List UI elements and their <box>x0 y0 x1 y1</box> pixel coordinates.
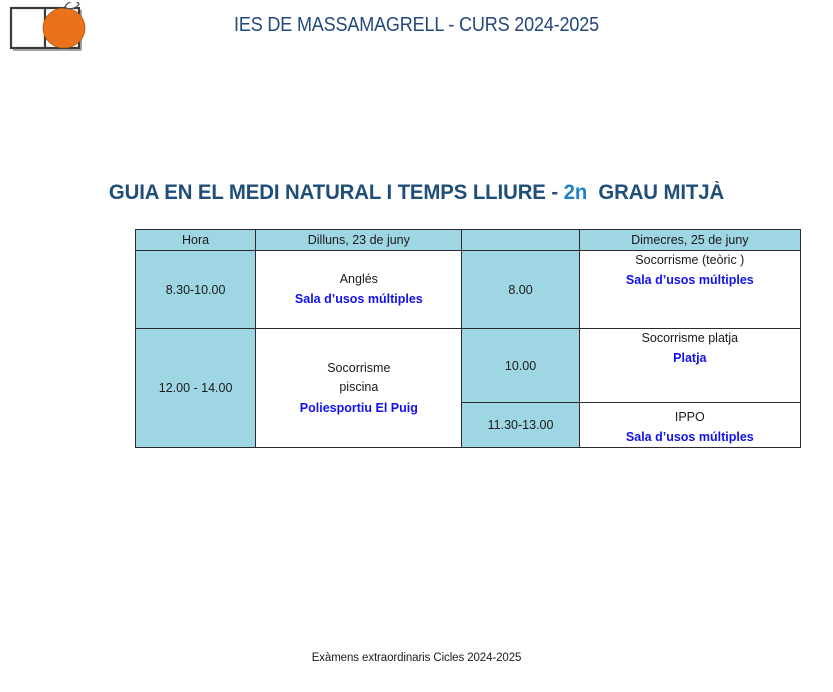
subject-dilluns-row1: Anglés <box>256 270 461 289</box>
time-label-row2a: 10.00 <box>462 359 578 373</box>
place-dilluns-row2: Poliesportiu El Puig <box>256 398 461 418</box>
table-header-row: Hora Dilluns, 23 de juny Dimecres, 25 de… <box>136 230 801 251</box>
table-row: 12.00 - 14.00 Socorrisme piscina Poliesp… <box>136 329 801 403</box>
cell-time-row2b: 11.30-13.00 <box>462 403 579 448</box>
column-header-empty <box>462 230 579 251</box>
time-label-row2b: 11.30-13.00 <box>462 418 578 432</box>
cell-hora-row1: 8.30-10.00 <box>136 251 256 329</box>
page-footer: Exàmens extraordinaris Cicles 2024-2025 <box>0 652 833 664</box>
cell-time-row2a: 10.00 <box>462 329 579 403</box>
exam-schedule-table: Hora Dilluns, 23 de juny Dimecres, 25 de… <box>135 229 801 448</box>
cell-hora-row2: 12.00 - 14.00 <box>136 329 256 448</box>
cell-dilluns-row1: Anglés Sala d’usos múltiples <box>256 251 462 329</box>
cell-dimecres-row2b: IPPO Sala d’usos múltiples <box>579 403 800 448</box>
place-dilluns-row1: Sala d’usos múltiples <box>256 289 461 309</box>
hora-label-row2: 12.00 - 14.00 <box>136 381 255 395</box>
subject-dilluns-row2-line1: Socorrisme <box>256 359 461 378</box>
place-dimecres-row2b: Sala d’usos múltiples <box>580 427 800 447</box>
page-header: IES DE MASSAMAGRELL - CURS 2024-2025 <box>0 0 833 62</box>
table-row: 8.30-10.00 Anglés Sala d’usos múltiples … <box>136 251 801 329</box>
organization-title: IES DE MASSAMAGRELL - CURS 2024-2025 <box>50 13 783 37</box>
cell-time-row1: 8.00 <box>462 251 579 329</box>
cell-dimecres-row1: Socorrisme (teòric ) Sala d’usos múltipl… <box>579 251 800 329</box>
hora-label-row1: 8.30-10.00 <box>136 283 255 297</box>
place-dimecres-row1: Sala d’usos múltiples <box>580 270 800 290</box>
page-title-accent: 2n <box>564 181 588 204</box>
cell-dilluns-row2: Socorrisme piscina Poliesportiu El Puig <box>256 329 462 448</box>
page-title-suffix: GRAU MITJÀ <box>587 181 724 204</box>
column-header-dimecres: Dimecres, 25 de juny <box>579 230 800 251</box>
time-label-row1: 8.00 <box>462 283 578 297</box>
column-header-dilluns: Dilluns, 23 de juny <box>256 230 462 251</box>
page-title-prefix: GUIA EN EL MEDI NATURAL I TEMPS LLIURE - <box>109 181 564 204</box>
subject-dimecres-row1: Socorrisme (teòric ) <box>580 251 800 270</box>
subject-dilluns-row2-line2: piscina <box>256 378 461 397</box>
place-dimecres-row2a: Platja <box>580 348 800 368</box>
subject-dimecres-row2b: IPPO <box>580 408 800 427</box>
subject-dimecres-row2a: Socorrisme platja <box>580 329 800 348</box>
page-title: GUIA EN EL MEDI NATURAL I TEMPS LLIURE -… <box>12 181 820 205</box>
column-header-hora: Hora <box>136 230 256 251</box>
cell-dimecres-row2a: Socorrisme platja Platja <box>579 329 800 403</box>
